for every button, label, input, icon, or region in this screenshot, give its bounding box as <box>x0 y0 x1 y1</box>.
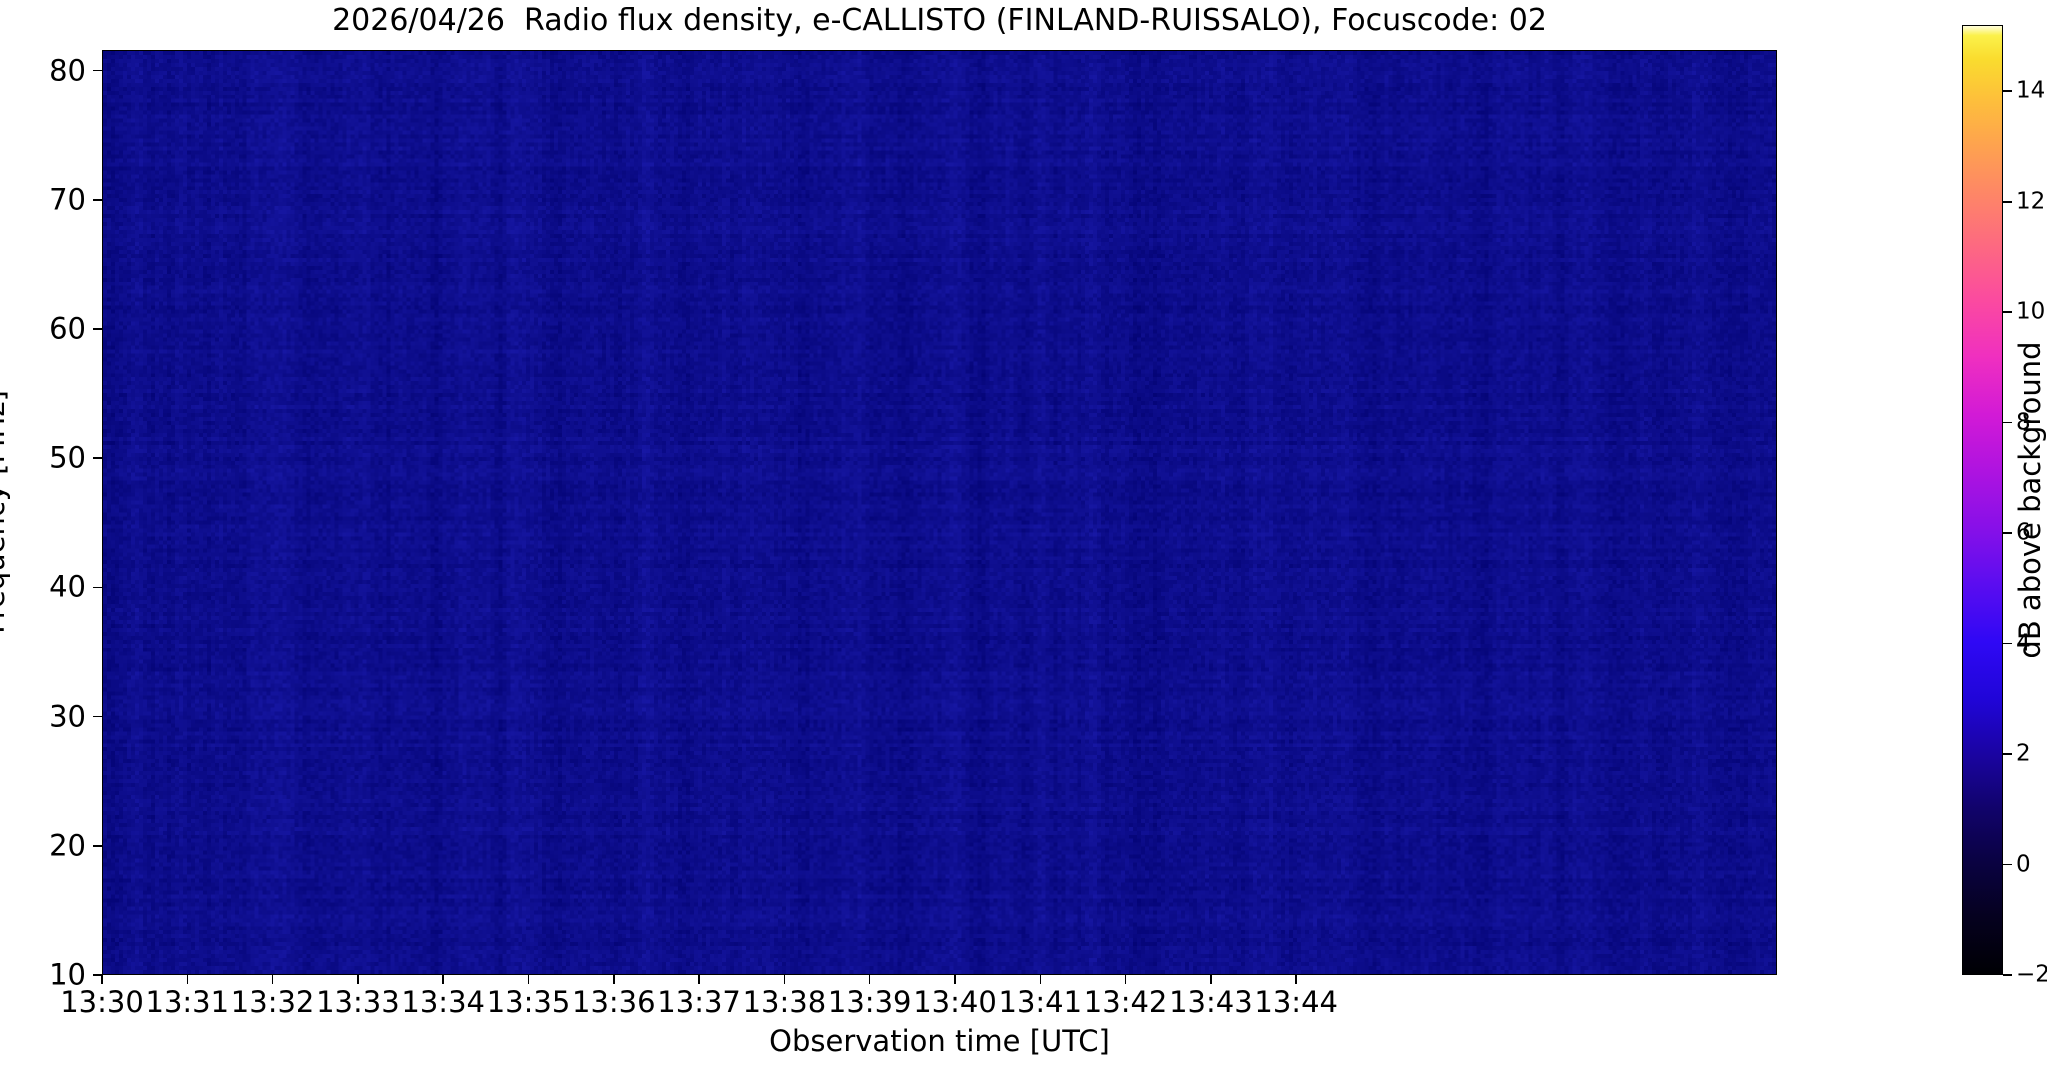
chart-title: 2026/04/26 Radio flux density, e-CALLIST… <box>102 4 1777 38</box>
x-axis-label: Observation time [UTC] <box>102 1024 1777 1058</box>
colorbar-tick-mark <box>2003 864 2012 866</box>
x-tick-label: 13:39 <box>828 988 912 1017</box>
x-tick-mark <box>187 975 189 984</box>
y-tick-label: 70 <box>49 185 86 214</box>
x-tick-label: 13:44 <box>1254 988 1338 1017</box>
spectrogram-image <box>103 51 1776 974</box>
colorbar-tick-mark <box>2003 974 2012 976</box>
spectrogram-axes[interactable] <box>102 50 1777 975</box>
y-tick-label: 50 <box>49 444 86 473</box>
y-tick-label: 20 <box>49 831 86 860</box>
x-tick-label: 13:31 <box>146 988 230 1017</box>
colorbar-label: dB above background <box>2013 341 2047 658</box>
y-tick-mark <box>93 328 102 330</box>
x-tick-mark <box>869 975 871 984</box>
x-tick-mark <box>613 975 615 984</box>
x-tick-mark <box>1125 975 1127 984</box>
colorbar[interactable] <box>1962 25 2003 975</box>
colorbar-tick-label: 2 <box>2016 743 2031 766</box>
x-tick-mark <box>954 975 956 984</box>
y-tick-label: 40 <box>49 573 86 602</box>
colorbar-tick-label: 14 <box>2016 80 2045 103</box>
colorbar-tick-mark <box>2003 90 2012 92</box>
y-tick-label: 30 <box>49 702 86 731</box>
colorbar-tick-mark <box>2003 532 2012 534</box>
colorbar-tick-label: −2 <box>2016 964 2047 987</box>
y-tick-mark <box>93 199 102 201</box>
x-tick-mark <box>272 975 274 984</box>
x-tick-label: 13:42 <box>1084 988 1168 1017</box>
x-tick-label: 13:41 <box>999 988 1083 1017</box>
x-tick-label: 13:30 <box>60 988 144 1017</box>
x-tick-mark <box>1040 975 1042 984</box>
y-axis-label: Frequency [MHz] <box>0 390 11 634</box>
x-tick-mark <box>698 975 700 984</box>
y-tick-mark <box>93 587 102 589</box>
figure-canvas: 2026/04/26 Radio flux density, e-CALLIST… <box>0 0 2047 1067</box>
colorbar-tick-mark <box>2003 311 2012 313</box>
y-tick-mark <box>93 70 102 72</box>
x-tick-mark <box>101 975 103 984</box>
colorbar-tick-mark <box>2003 422 2012 424</box>
y-tick-mark <box>93 457 102 459</box>
x-tick-label: 13:43 <box>1169 988 1253 1017</box>
y-tick-label: 80 <box>49 56 86 85</box>
colorbar-tick-mark <box>2003 201 2012 203</box>
x-tick-label: 13:40 <box>913 988 997 1017</box>
x-tick-mark <box>357 975 359 984</box>
colorbar-tick-mark <box>2003 643 2012 645</box>
colorbar-gradient <box>1963 26 2002 974</box>
colorbar-tick-label: 10 <box>2016 301 2045 324</box>
x-tick-label: 13:35 <box>487 988 571 1017</box>
x-tick-mark <box>784 975 786 984</box>
colorbar-tick-mark <box>2003 753 2012 755</box>
x-tick-label: 13:32 <box>231 988 315 1017</box>
x-tick-label: 13:33 <box>316 988 400 1017</box>
x-tick-label: 13:34 <box>401 988 485 1017</box>
y-tick-mark <box>93 845 102 847</box>
x-tick-mark <box>1295 975 1297 984</box>
colorbar-tick-label: 0 <box>2016 853 2031 876</box>
x-tick-label: 13:38 <box>743 988 827 1017</box>
colorbar-tick-label: 12 <box>2016 190 2045 213</box>
x-tick-label: 13:36 <box>572 988 656 1017</box>
x-tick-mark <box>528 975 530 984</box>
x-tick-mark <box>1210 975 1212 984</box>
x-tick-mark <box>442 975 444 984</box>
x-tick-label: 13:37 <box>657 988 741 1017</box>
y-tick-mark <box>93 716 102 718</box>
y-tick-label: 60 <box>49 315 86 344</box>
